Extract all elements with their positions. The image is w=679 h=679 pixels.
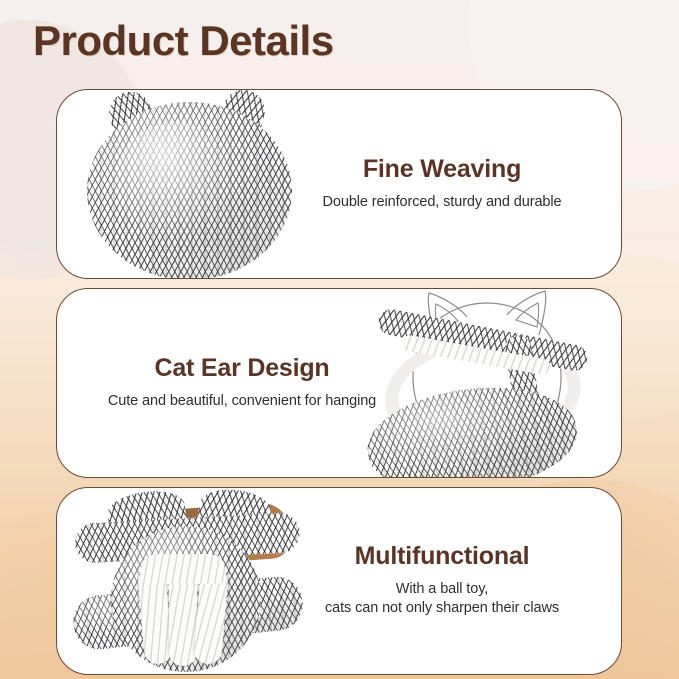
product-details-infographic: Product Details Fine Weaving Double rein… <box>0 0 679 679</box>
basket-highlight <box>115 122 235 242</box>
card-subtitle-line1: Cute and beautiful, convenient for hangi… <box>108 392 376 408</box>
feature-card-multifunctional: Multifunctional With a ball toy, cats ca… <box>56 487 622 675</box>
card-subtitle-line1: Double reinforced, sturdy and durable <box>323 193 562 209</box>
ball-knot-cap <box>141 554 225 584</box>
feature-text-fine-weaving: Fine Weaving Double reinforced, sturdy a… <box>277 156 607 212</box>
card-subtitle-line1: With a ball toy, <box>277 580 607 600</box>
card-subtitle: Double reinforced, sturdy and durable <box>277 192 607 212</box>
card-subtitle-line2: cats can not only sharpen their claws <box>277 599 607 619</box>
page-title: Product Details <box>33 17 334 65</box>
card-heading: Multifunctional <box>277 543 607 571</box>
product-photo-cat-ear-design <box>363 288 613 478</box>
feature-card-fine-weaving: Fine Weaving Double reinforced, sturdy a… <box>56 89 622 279</box>
feature-card-cat-ear-design: Cat Ear Design Cute and beautiful, conve… <box>56 288 622 478</box>
feature-text-multifunctional: Multifunctional With a ball toy, cats ca… <box>277 543 607 619</box>
card-heading: Fine Weaving <box>277 156 607 184</box>
card-subtitle: With a ball toy, cats can not only sharp… <box>277 580 607 619</box>
